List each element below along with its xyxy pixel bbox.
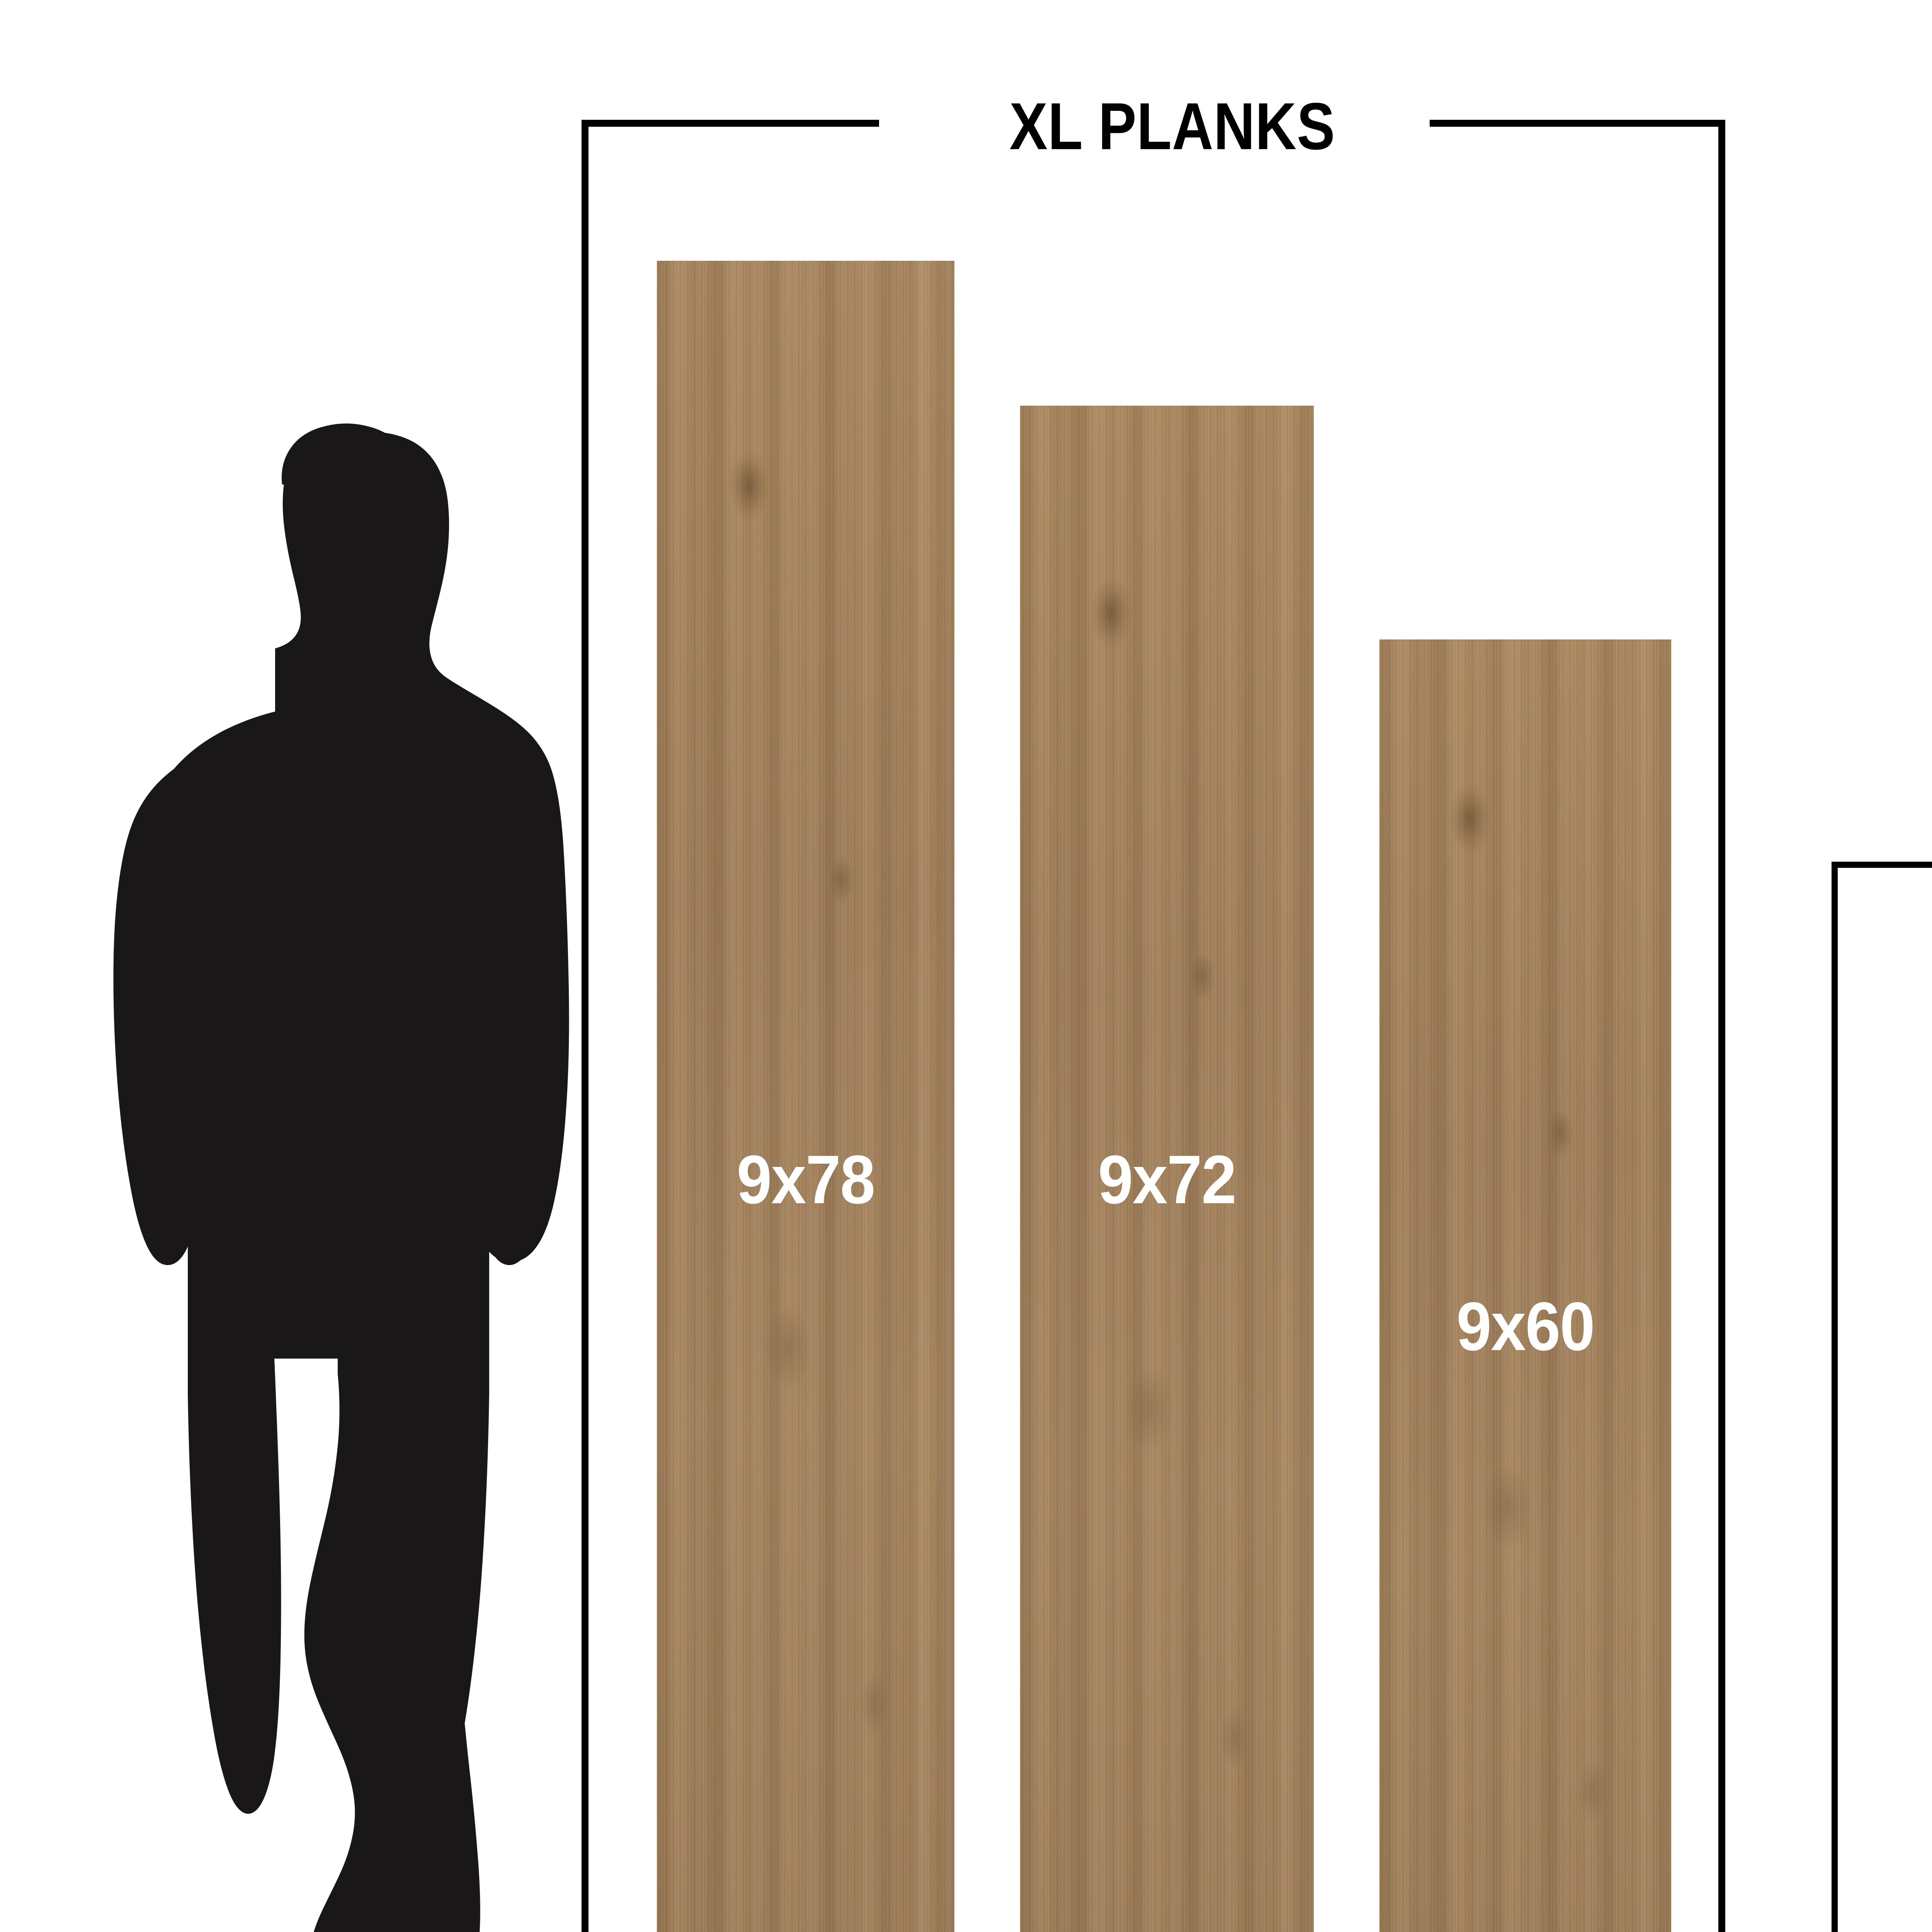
plank-9x72[interactable]: 9x72 <box>1020 406 1314 1932</box>
man-silhouette <box>58 421 618 1932</box>
bracket-top-left-stub <box>582 120 879 127</box>
std-bracket-top-left-stub <box>1832 862 1932 868</box>
std-bracket-left-rail <box>1832 862 1838 1932</box>
bracket-left-rail <box>582 120 588 1932</box>
plank-9x78[interactable]: 9x78 <box>657 261 954 1932</box>
plank-9x60-label: 9x60 <box>1391 1287 1660 1366</box>
plank-9x72-label: 9x72 <box>1032 1140 1302 1219</box>
plank-9x60[interactable]: 9x60 <box>1379 639 1671 1932</box>
bracket-right-rail <box>1718 120 1725 1932</box>
plank-9x78-label: 9x78 <box>669 1140 942 1219</box>
bracket-top-right-stub <box>1430 120 1725 127</box>
infographic-canvas: XL PLANKS STANDARD SIZE 9x78 9x72 9x60 7… <box>0 0 1932 1932</box>
xl-planks-label: XL PLANKS <box>923 88 1421 165</box>
